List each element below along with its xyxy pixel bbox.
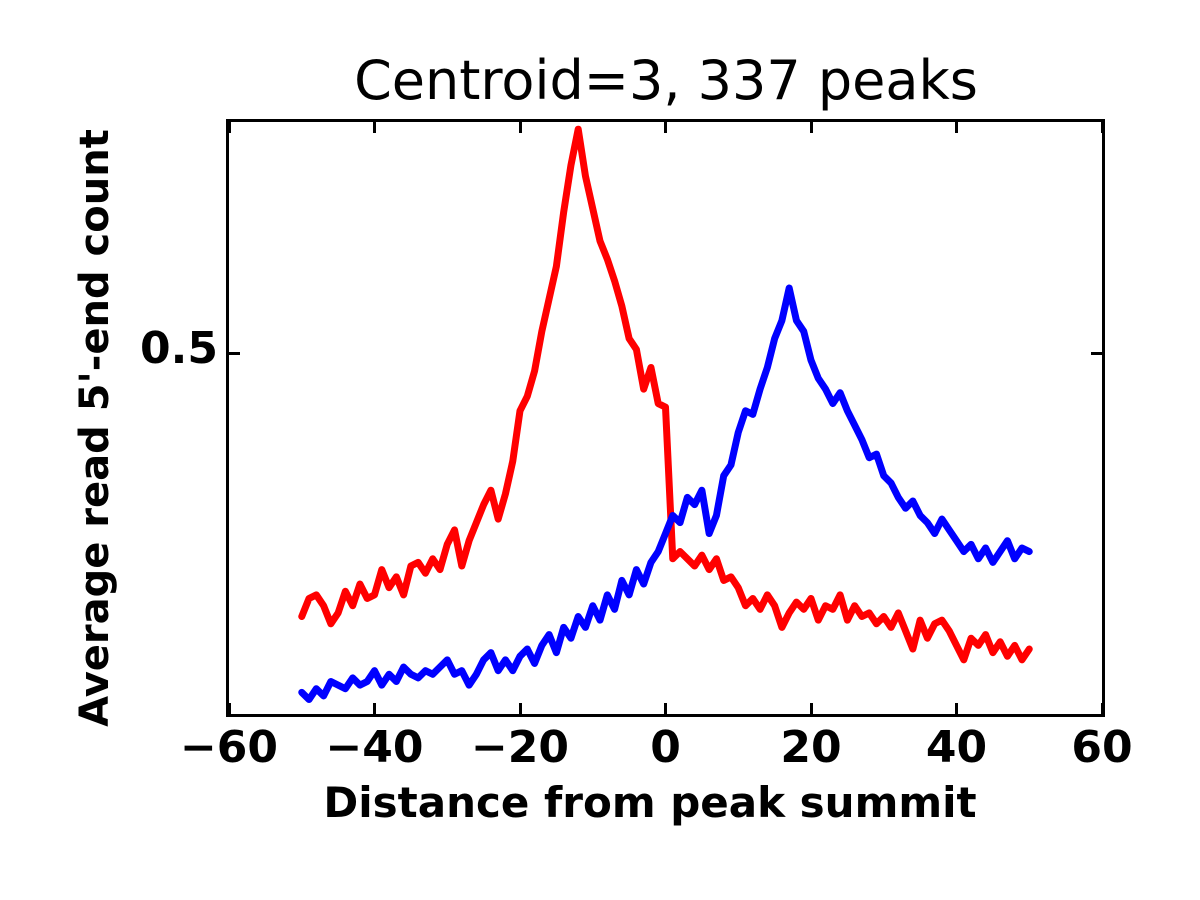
x-axis-label: Distance from peak summit xyxy=(180,778,1120,827)
x-tick-label: 20 xyxy=(751,722,871,773)
plot-canvas xyxy=(229,122,1102,714)
chart-figure: Centroid=3, 337 peaks Average read 5'-en… xyxy=(0,0,1200,900)
x-tick-mark xyxy=(519,703,522,714)
y-tick-mark xyxy=(229,352,240,355)
x-tick-mark-top xyxy=(955,122,958,133)
x-tick-mark xyxy=(810,703,813,714)
x-tick-mark xyxy=(373,703,376,714)
x-tick-mark-top xyxy=(1101,122,1104,133)
x-tick-label: −40 xyxy=(315,722,435,773)
x-tick-label: −60 xyxy=(169,722,289,773)
y-axis-label: Average read 5'-end count xyxy=(72,28,118,828)
x-tick-mark-top xyxy=(519,122,522,133)
chart-title: Centroid=3, 337 peaks xyxy=(226,50,1106,112)
series-line-reverse-strand-blue xyxy=(302,288,1030,700)
x-tick-mark xyxy=(1101,703,1104,714)
series-line-forward-strand-red xyxy=(302,129,1030,660)
x-tick-mark xyxy=(955,703,958,714)
x-tick-mark-top xyxy=(810,122,813,133)
x-tick-label: −20 xyxy=(460,722,580,773)
x-tick-mark xyxy=(228,703,231,714)
x-tick-mark-top xyxy=(664,122,667,133)
plot-area xyxy=(226,119,1105,717)
x-tick-label: 40 xyxy=(897,722,1017,773)
y-tick-mark-right xyxy=(1091,352,1102,355)
x-tick-mark-top xyxy=(228,122,231,133)
x-tick-mark xyxy=(664,703,667,714)
x-tick-label: 60 xyxy=(1042,722,1162,773)
x-tick-label: 0 xyxy=(606,722,726,773)
y-tick-label: 0.5 xyxy=(88,323,218,374)
x-tick-mark-top xyxy=(373,122,376,133)
